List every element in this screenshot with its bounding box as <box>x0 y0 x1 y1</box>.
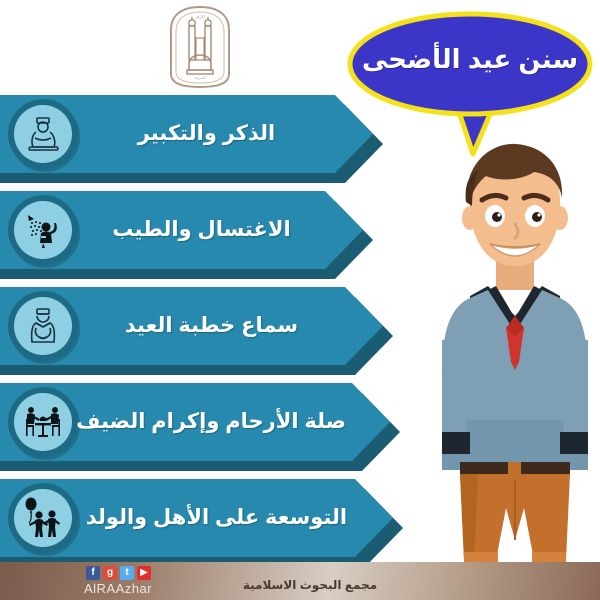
al-azhar-logo: الأزهر الشريف <box>163 4 237 90</box>
svg-text:الأزهر: الأزهر <box>194 13 205 19</box>
list-item-label: الذكر والتكبير <box>84 95 329 173</box>
list-item-label: سماع خطبة العيد <box>84 287 339 365</box>
standing-listener-icon <box>8 291 78 361</box>
list-item[interactable]: الذكر والتكبير <box>0 95 375 173</box>
infographic-poster: الأزهر الشريف <box>0 0 600 600</box>
list-item-label: صلة الأرحام وإكرام الضيف <box>84 383 346 461</box>
guests-at-table-icon <box>8 387 78 457</box>
social-handle: AlRAAzhar <box>84 581 152 596</box>
footer-bar: f g t ▶ AlRAAzhar مجمع البحوث الاسلامية <box>0 562 600 600</box>
shower-person-icon <box>8 195 78 265</box>
svg-text:الشريف: الشريف <box>194 75 206 80</box>
list-item[interactable]: التوسعة على الأهل والولد <box>0 479 395 557</box>
praying-person-icon <box>8 99 78 169</box>
bubble-title: سنن عيد الأضحى <box>345 44 595 75</box>
list-item-label: التوسعة على الأهل والولد <box>84 479 349 557</box>
sunnah-list: الذكر والتكبير <box>0 95 600 555</box>
list-item[interactable]: صلة الأرحام وإكرام الضيف <box>0 383 392 461</box>
list-item[interactable]: سماع خطبة العيد <box>0 287 385 365</box>
social-links[interactable]: f g t ▶ <box>86 566 151 580</box>
youtube-icon[interactable]: ▶ <box>137 566 151 580</box>
twitter-icon[interactable]: t <box>120 566 134 580</box>
list-item-label: الاغتسال والطيب <box>84 191 319 269</box>
googleplus-icon[interactable]: g <box>103 566 117 580</box>
children-balloon-icon <box>8 483 78 553</box>
facebook-icon[interactable]: f <box>86 566 100 580</box>
organization-name: مجمع البحوث الاسلامية <box>180 578 440 592</box>
list-item[interactable]: الاغتسال والطيب <box>0 191 365 269</box>
